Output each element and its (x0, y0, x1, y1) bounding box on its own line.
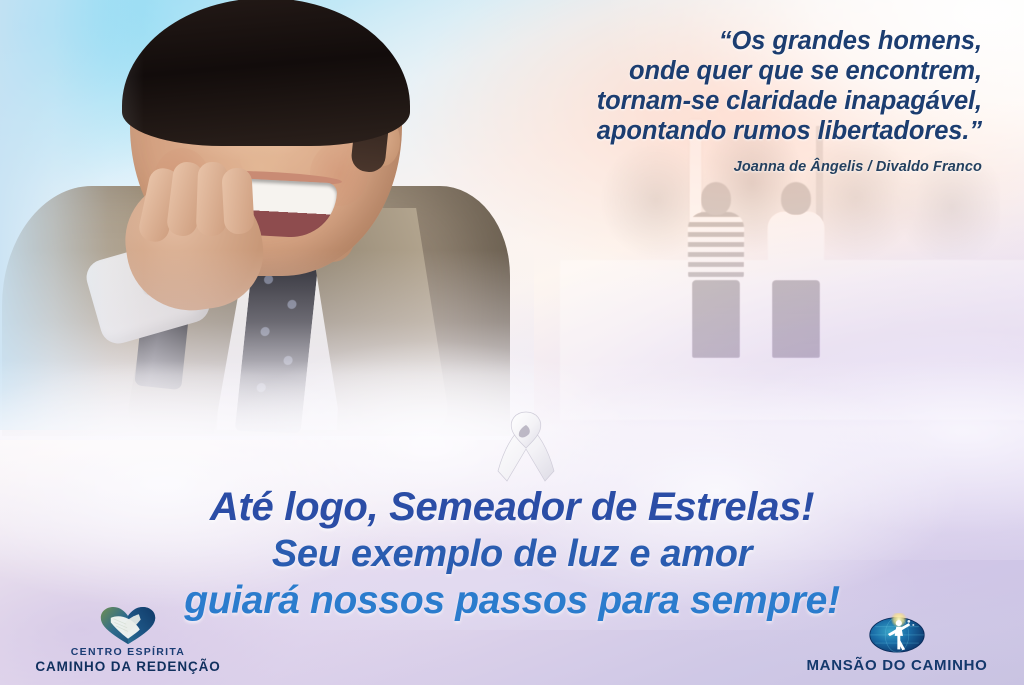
message-line-1: Até logo, Semeador de Estrelas! (0, 487, 1024, 527)
torso (768, 212, 824, 280)
fence (908, 270, 1018, 328)
message-line-2: Seu exemplo de luz e amor (0, 535, 1024, 573)
portrait-photo (0, 0, 524, 430)
tribute-message: Até logo, Semeador de Estrelas! Seu exem… (0, 487, 1024, 620)
logo-left-line-2: CAMINHO DA REDENÇÃO (22, 659, 234, 675)
quote-line-4: apontando rumos libertadores.” (462, 116, 982, 146)
quote-line-3: tornam-se claridade inapagável, (462, 86, 982, 116)
quote-line-2: onde quer que se encontrem, (462, 56, 982, 86)
person-striped-shirt (688, 212, 744, 358)
logo-right-line-1: MANSÃO DO CAMINHO (786, 657, 1008, 675)
finger (221, 167, 254, 234)
hair (122, 0, 410, 146)
logo-mansao-do-caminho[interactable]: MANSÃO DO CAMINHO (786, 614, 1008, 675)
tribute-poster: “Os grandes homens, onde quer que se enc… (0, 0, 1024, 685)
memorial-ribbon-icon (495, 409, 557, 485)
torso (688, 212, 744, 280)
quote-line-1: “Os grandes homens, (462, 26, 982, 56)
heart-hands-icon (22, 606, 234, 646)
legs (692, 280, 740, 358)
globe-figure-icon (786, 614, 1008, 654)
quote-author: Joanna de Ângelis / Divaldo Franco (462, 159, 982, 175)
logo-centro-espirita[interactable]: CENTRO ESPÍRITA CAMINHO DA REDENÇÃO (22, 606, 234, 675)
head (781, 182, 811, 215)
quote-block: “Os grandes homens, onde quer que se enc… (462, 26, 982, 175)
head (701, 182, 731, 215)
logo-left-line-1: CENTRO ESPÍRITA (22, 646, 234, 659)
person-white-shirt (768, 212, 824, 358)
legs (772, 280, 820, 358)
